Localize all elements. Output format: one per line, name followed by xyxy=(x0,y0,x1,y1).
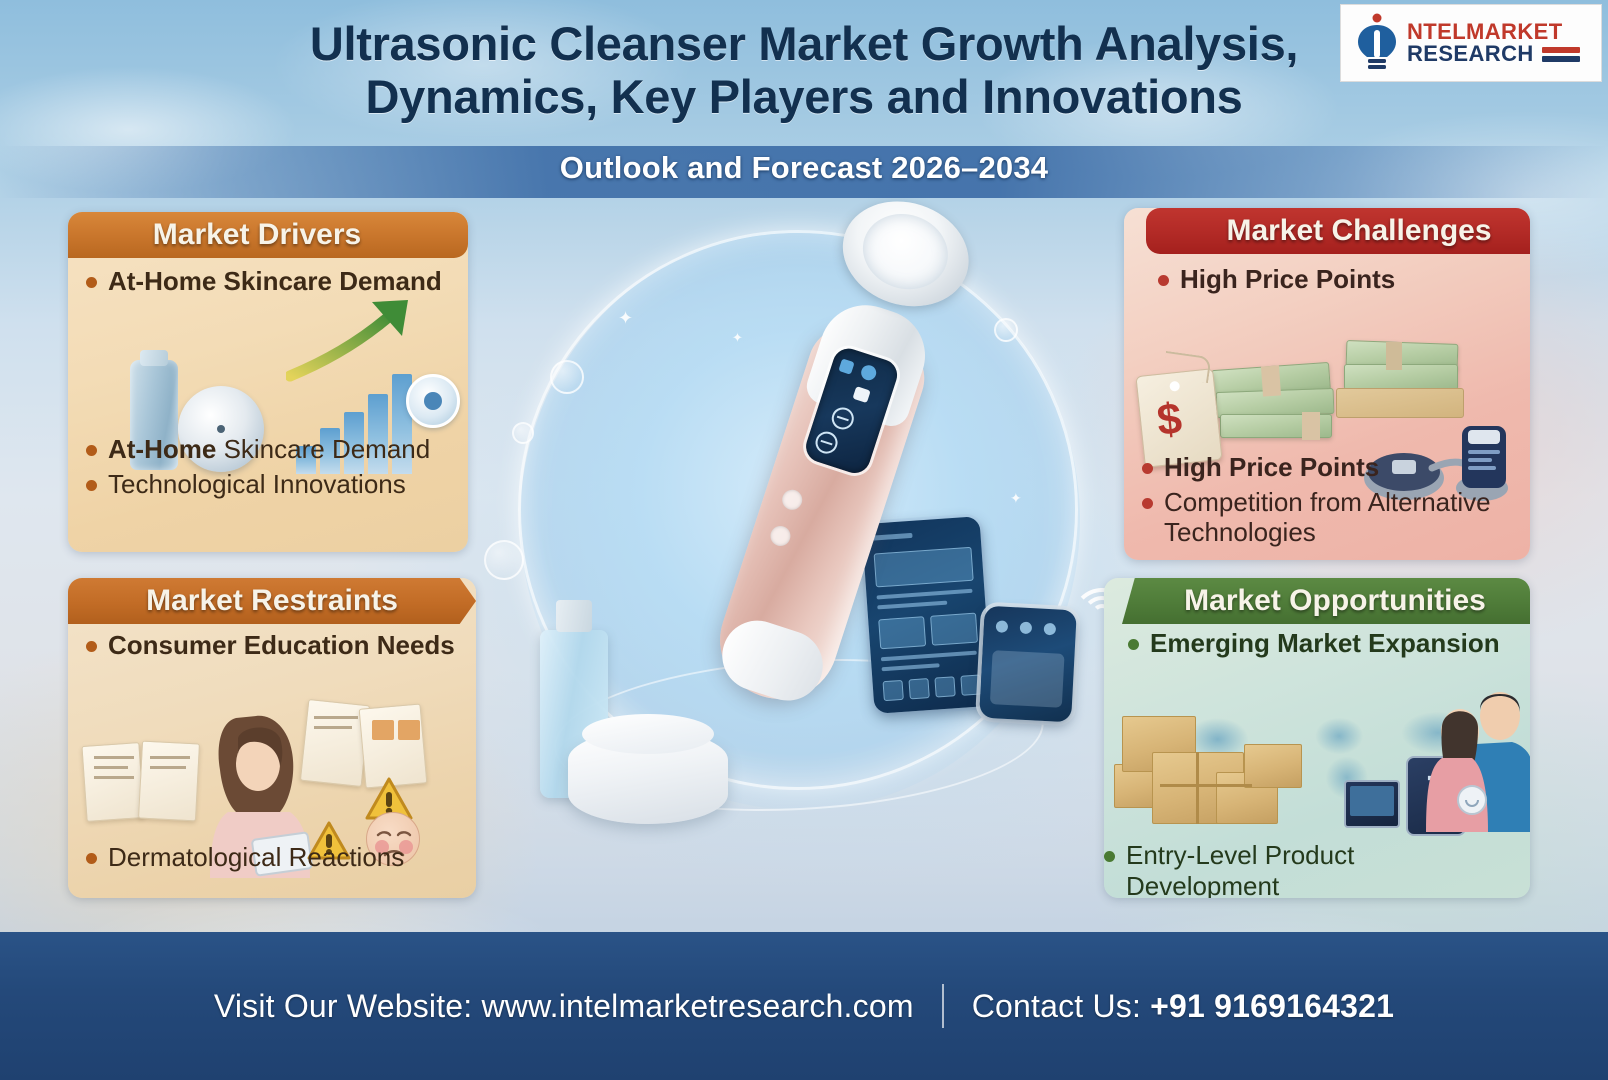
bullet-dot xyxy=(86,641,97,652)
panel-market-drivers[interactable]: Market Drivers xyxy=(68,212,468,552)
bullet-dot xyxy=(86,445,97,456)
bullet-dot xyxy=(86,853,97,864)
subtitle: Outlook and Forecast 2026–2034 xyxy=(0,150,1608,186)
footer-bar: Visit Our Website: www.intelmarketresear… xyxy=(0,932,1608,1080)
website-url[interactable]: www.intelmarketresearch.com xyxy=(481,988,913,1024)
bullet-bold: Emerging Market Expansion xyxy=(1150,628,1500,658)
companion-device xyxy=(979,606,1077,723)
opportunities-bottom-bullets: Entry-Level Product Development xyxy=(1104,840,1530,898)
lightbulb-icon xyxy=(1355,13,1399,73)
bullet-bold: At-Home Skincare xyxy=(108,266,332,296)
panel-title-market-restraints: Market Restraints xyxy=(68,578,476,624)
footer-divider xyxy=(942,984,944,1028)
bullet-dot xyxy=(86,480,97,491)
panel-title-market-drivers: Market Drivers xyxy=(68,212,468,258)
bullet-rest: Competition from Alternative Technologie… xyxy=(1164,487,1491,548)
bullet-dot xyxy=(86,277,97,288)
list-item: Entry-Level Product Development xyxy=(1104,840,1512,898)
infographic-canvas: Ultrasonic Cleanser Market Growth Analys… xyxy=(0,0,1608,1080)
list-item: Technological Innovations xyxy=(86,469,450,500)
bullet-rest: Needs xyxy=(369,630,454,660)
list-item: High Price Points xyxy=(1158,264,1512,295)
logo-bars-icon xyxy=(1542,47,1580,62)
bullet-dot xyxy=(1142,463,1153,474)
panel-title-market-opportunities: Market Opportunities xyxy=(1122,578,1530,624)
contact-label: Contact Us: xyxy=(972,988,1141,1024)
website-line[interactable]: Visit Our Website: www.intelmarketresear… xyxy=(214,988,914,1025)
list-item: Emerging Market Expansion xyxy=(1128,628,1512,659)
smartphone-app xyxy=(862,516,993,714)
bullet-rest: Technological Innovations xyxy=(108,469,406,499)
list-item: At-Home Skincare Demand xyxy=(86,434,450,465)
panel-title-market-challenges: Market Challenges xyxy=(1146,208,1530,254)
list-item: Consumer Education Needs xyxy=(86,630,458,661)
list-item: High Price Points xyxy=(1142,452,1512,483)
challenges-bottom-bullets: High Price Points Competition from Alter… xyxy=(1124,452,1530,552)
restraints-top-bullets: Consumer Education Needs xyxy=(68,630,476,665)
contact-line[interactable]: Contact Us: +91 9169164321 xyxy=(972,988,1394,1025)
bullet-bold: High Price Points xyxy=(1180,264,1395,294)
logo-text-intelmarket: NTELMARKET xyxy=(1407,21,1580,43)
bullet-bold: Consumer Education xyxy=(108,630,369,660)
skincare-bottle-growth-chart-illustration xyxy=(68,258,468,552)
drivers-bottom-bullets: At-Home Skincare Demand Technological In… xyxy=(68,434,468,503)
logo-text-research: RESEARCH xyxy=(1407,43,1534,65)
bullet-dot xyxy=(1104,851,1115,862)
bullet-dot xyxy=(1158,275,1169,286)
challenges-top-bullets: High Price Points xyxy=(1124,264,1530,299)
brand-logo[interactable]: NTELMARKET RESEARCH xyxy=(1340,4,1602,82)
panel-market-restraints[interactable]: Market Restraints xyxy=(68,578,476,898)
bullet-rest: Dermatological Reactions xyxy=(108,842,404,872)
bullet-rest: Entry-Level Product Development xyxy=(1126,840,1354,898)
contact-phone[interactable]: +91 9169164321 xyxy=(1150,988,1394,1024)
list-item: Competition from Alternative Technologie… xyxy=(1142,487,1512,548)
cream-jar xyxy=(568,730,728,824)
website-label: Visit Our Website: xyxy=(214,988,473,1024)
list-item: Dermatological Reactions xyxy=(86,842,458,873)
restraints-bottom-bullets: Dermatological Reactions xyxy=(68,842,476,877)
opportunities-top-bullets: Emerging Market Expansion xyxy=(1104,628,1530,663)
bullet-rest: Demand xyxy=(332,266,442,296)
bullet-rest: Skincare Demand xyxy=(216,434,430,464)
panel-market-challenges[interactable]: Market Challenges $ xyxy=(1124,208,1530,560)
couple-figures xyxy=(1422,682,1530,837)
bullet-dot xyxy=(1128,639,1139,650)
hero-product-illustration: ✦ ✦ ✦ ✦ xyxy=(470,190,1150,920)
title-line-1: Ultrasonic Cleanser Market Growth Analys… xyxy=(230,18,1378,71)
drivers-top-bullets: At-Home Skincare Demand xyxy=(68,266,468,301)
bullet-bold: High Price Points xyxy=(1164,452,1379,482)
bullet-bold: At-Home xyxy=(108,434,216,464)
panel-market-opportunities[interactable]: Market Opportunities ✚ xyxy=(1104,578,1530,898)
list-item: At-Home Skincare Demand xyxy=(86,266,450,297)
title-line-2: Dynamics, Key Players and Innovations xyxy=(230,71,1378,124)
warning-triangle-icon xyxy=(364,776,414,827)
bullet-dot xyxy=(1142,498,1153,509)
